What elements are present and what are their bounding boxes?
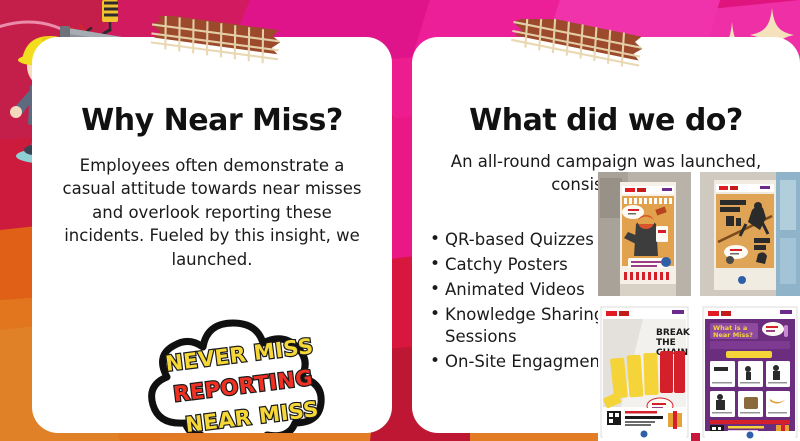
page-title-left: Why Near Miss? <box>32 103 392 138</box>
list-item: Catchy Posters <box>428 254 624 276</box>
svg-text:BREAK: BREAK <box>656 328 691 338</box>
cloud-callout: NEVER MISS REPORTING NEAR MISS <box>140 305 355 433</box>
campaign-bullet-list: QR-based Quizzes Catchy Posters Animated… <box>428 229 624 376</box>
photo-poster-break-the-chain: BREAK THE CHAIN <box>598 303 691 441</box>
washi-tape-right <box>508 19 648 73</box>
svg-text:THE: THE <box>656 338 676 348</box>
page-title-right: What did we do? <box>412 103 800 138</box>
intro-text-left: Employees often demonstrate a casual att… <box>60 154 364 271</box>
list-item: Animated Videos <box>428 279 624 301</box>
list-item: QR-based Quizzes <box>428 229 624 251</box>
svg-text:Near Miss?: Near Miss? <box>713 331 753 339</box>
photo-standee-small-misstep <box>700 172 800 296</box>
list-item: Knowledge Sharing Sessions <box>428 304 624 348</box>
photo-poster-what-is-a-near-miss: What is a Near Miss? <box>700 303 800 441</box>
list-item: On-Site Engagments <box>428 351 624 373</box>
washi-tape-left <box>148 16 286 68</box>
photo-standee-near-miss-worker <box>598 172 691 296</box>
card-why-near-miss: Why Near Miss? Employees often demonstra… <box>32 37 392 433</box>
